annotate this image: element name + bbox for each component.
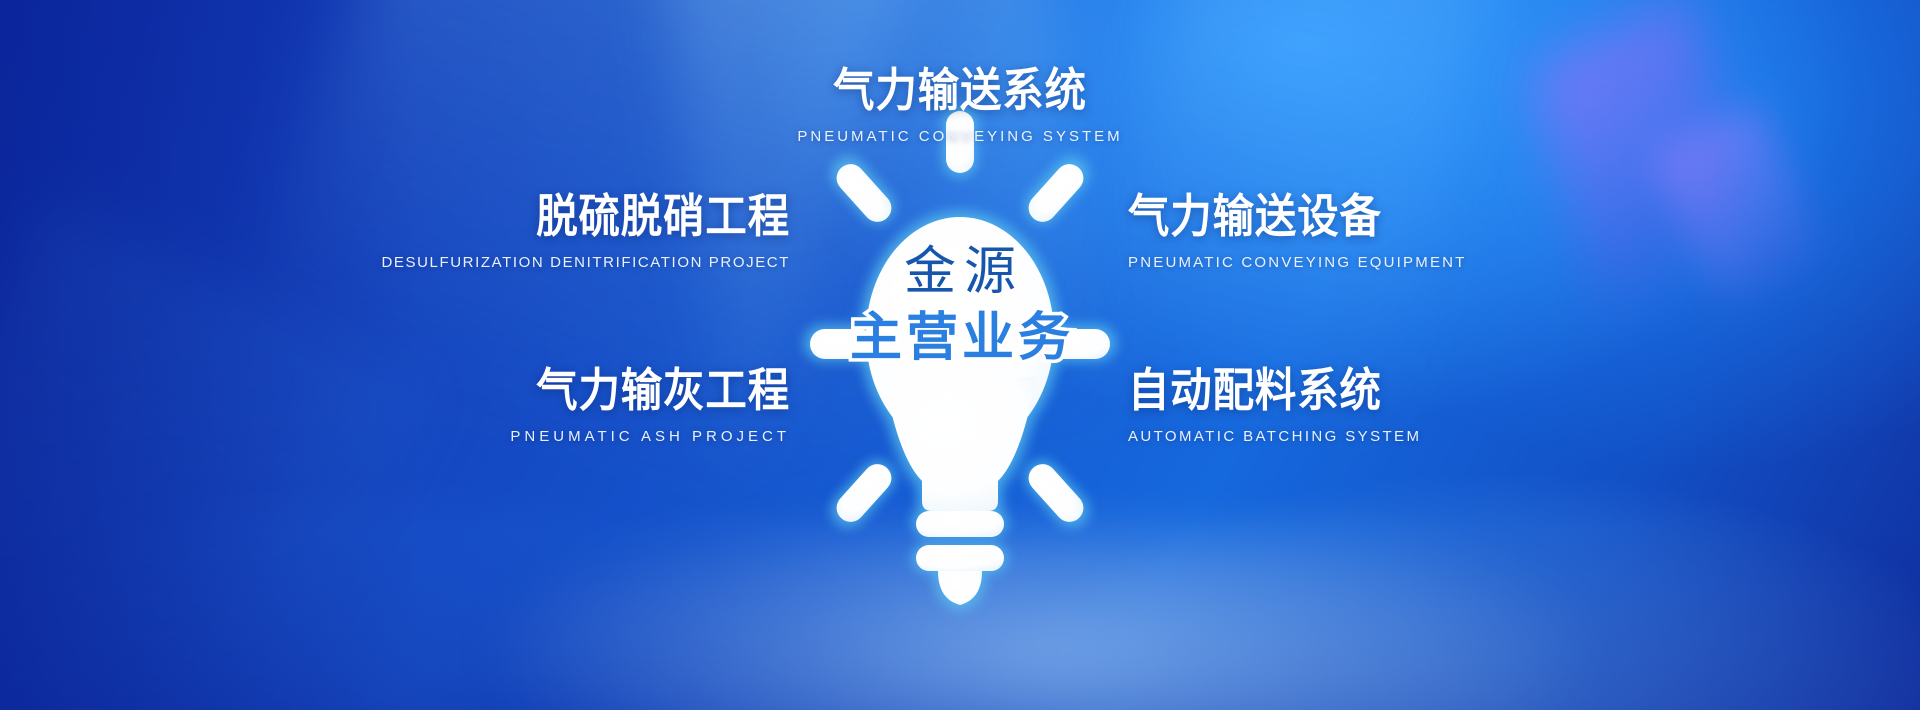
service-title-en: PNEUMATIC CONVEYING SYSTEM [760,128,1160,145]
service-title-en: PNEUMATIC CONVEYING EQUIPMENT [1128,254,1698,271]
light-shaft-icon [0,202,428,710]
service-item-automatic-batching-system[interactable]: 自动配料系统 AUTOMATIC BATCHING SYSTEM [1128,366,1698,445]
service-title-cn: 气力输灰工程 [277,366,790,416]
service-title-en: AUTOMATIC BATCHING SYSTEM [1128,428,1698,445]
service-title-en: DESULFURIZATION DENITRIFICATION PROJECT [220,254,790,271]
service-item-pneumatic-conveying-system[interactable]: 气力输送系统 PNEUMATIC CONVEYING SYSTEM [760,66,1160,145]
edge-vignette [0,0,420,710]
service-item-pneumatic-conveying-equipment[interactable]: 气力输送设备 PNEUMATIC CONVEYING EQUIPMENT [1128,192,1698,271]
service-title-cn: 自动配料系统 [1128,366,1641,416]
service-title-cn: 气力输送设备 [1128,192,1641,242]
lightbulb-icon [800,103,1120,623]
service-item-desulfurization-denitrification-project[interactable]: 脱硫脱硝工程 DESULFURIZATION DENITRIFICATION P… [220,192,790,271]
service-title-cn: 脱硫脱硝工程 [277,192,790,242]
service-title-en: PNEUMATIC ASH PROJECT [220,428,790,445]
service-item-pneumatic-ash-project[interactable]: 气力输灰工程 PNEUMATIC ASH PROJECT [220,366,790,445]
service-title-cn: 气力输送系统 [780,66,1140,116]
main-banner: 金源 主营业务 气力输送系统 PNEUMATIC CONVEYING SYSTE… [0,0,1920,710]
